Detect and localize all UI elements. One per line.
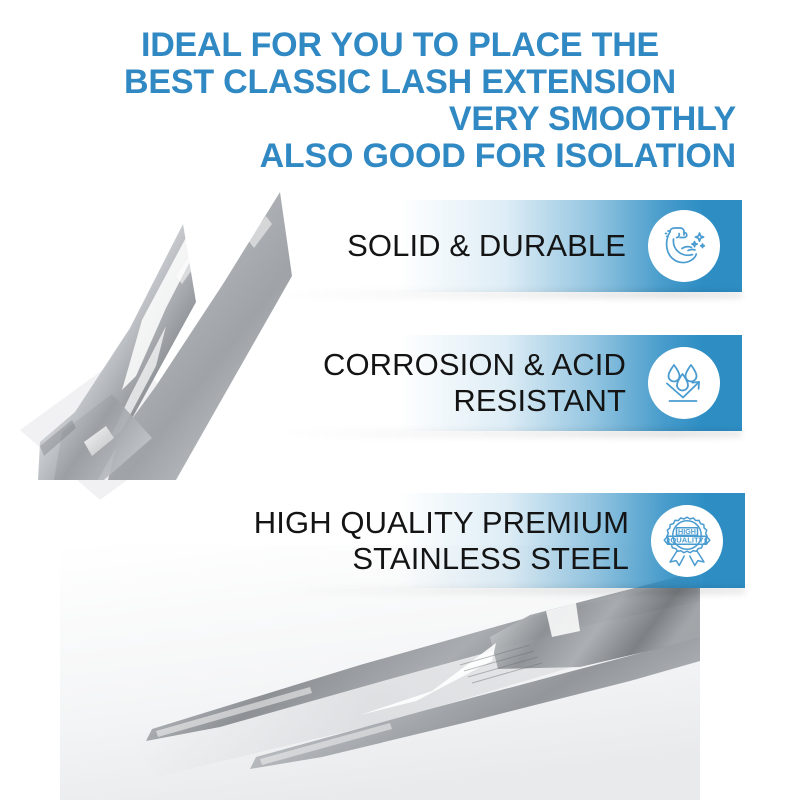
feature-bar-solid-durable: SOLID & DURABLE xyxy=(250,200,742,292)
feature-bar-corrosion-acid-resistant: CORROSION & ACID RESISTANT xyxy=(250,335,742,431)
infographic-page: IDEAL FOR YOU TO PLACE THE BEST CLASSIC … xyxy=(0,0,800,800)
feature-label-corrosion-acid-resistant: CORROSION & ACID RESISTANT xyxy=(323,347,626,419)
feature-bar-shadow xyxy=(280,586,745,595)
headline-line-3: VERY SMOOTHLY xyxy=(60,101,740,138)
feature-bar-high-quality-stainless-steel: HIGH QUALITY PREMIUM STAINLESS STEEL HIG… xyxy=(250,493,745,588)
feature-bar-shadow xyxy=(280,290,742,299)
headline: IDEAL FOR YOU TO PLACE THE BEST CLASSIC … xyxy=(60,27,740,175)
badge-bottom-text: QUALITY xyxy=(670,535,703,544)
flexed-bicep-icon xyxy=(648,210,720,282)
feature-label-high-quality-stainless-steel: HIGH QUALITY PREMIUM STAINLESS STEEL xyxy=(254,505,629,577)
high-quality-badge-icon: HIGH QUALITY xyxy=(651,505,723,577)
headline-line-1: IDEAL FOR YOU TO PLACE THE xyxy=(60,27,740,64)
headline-line-4: ALSO GOOD FOR ISOLATION xyxy=(60,138,740,175)
water-droplet-resistant-icon xyxy=(648,347,720,419)
feature-label-solid-durable: SOLID & DURABLE xyxy=(347,228,626,264)
feature-bar-shadow xyxy=(280,429,742,438)
headline-line-2: BEST CLASSIC LASH EXTENSION xyxy=(60,64,740,101)
